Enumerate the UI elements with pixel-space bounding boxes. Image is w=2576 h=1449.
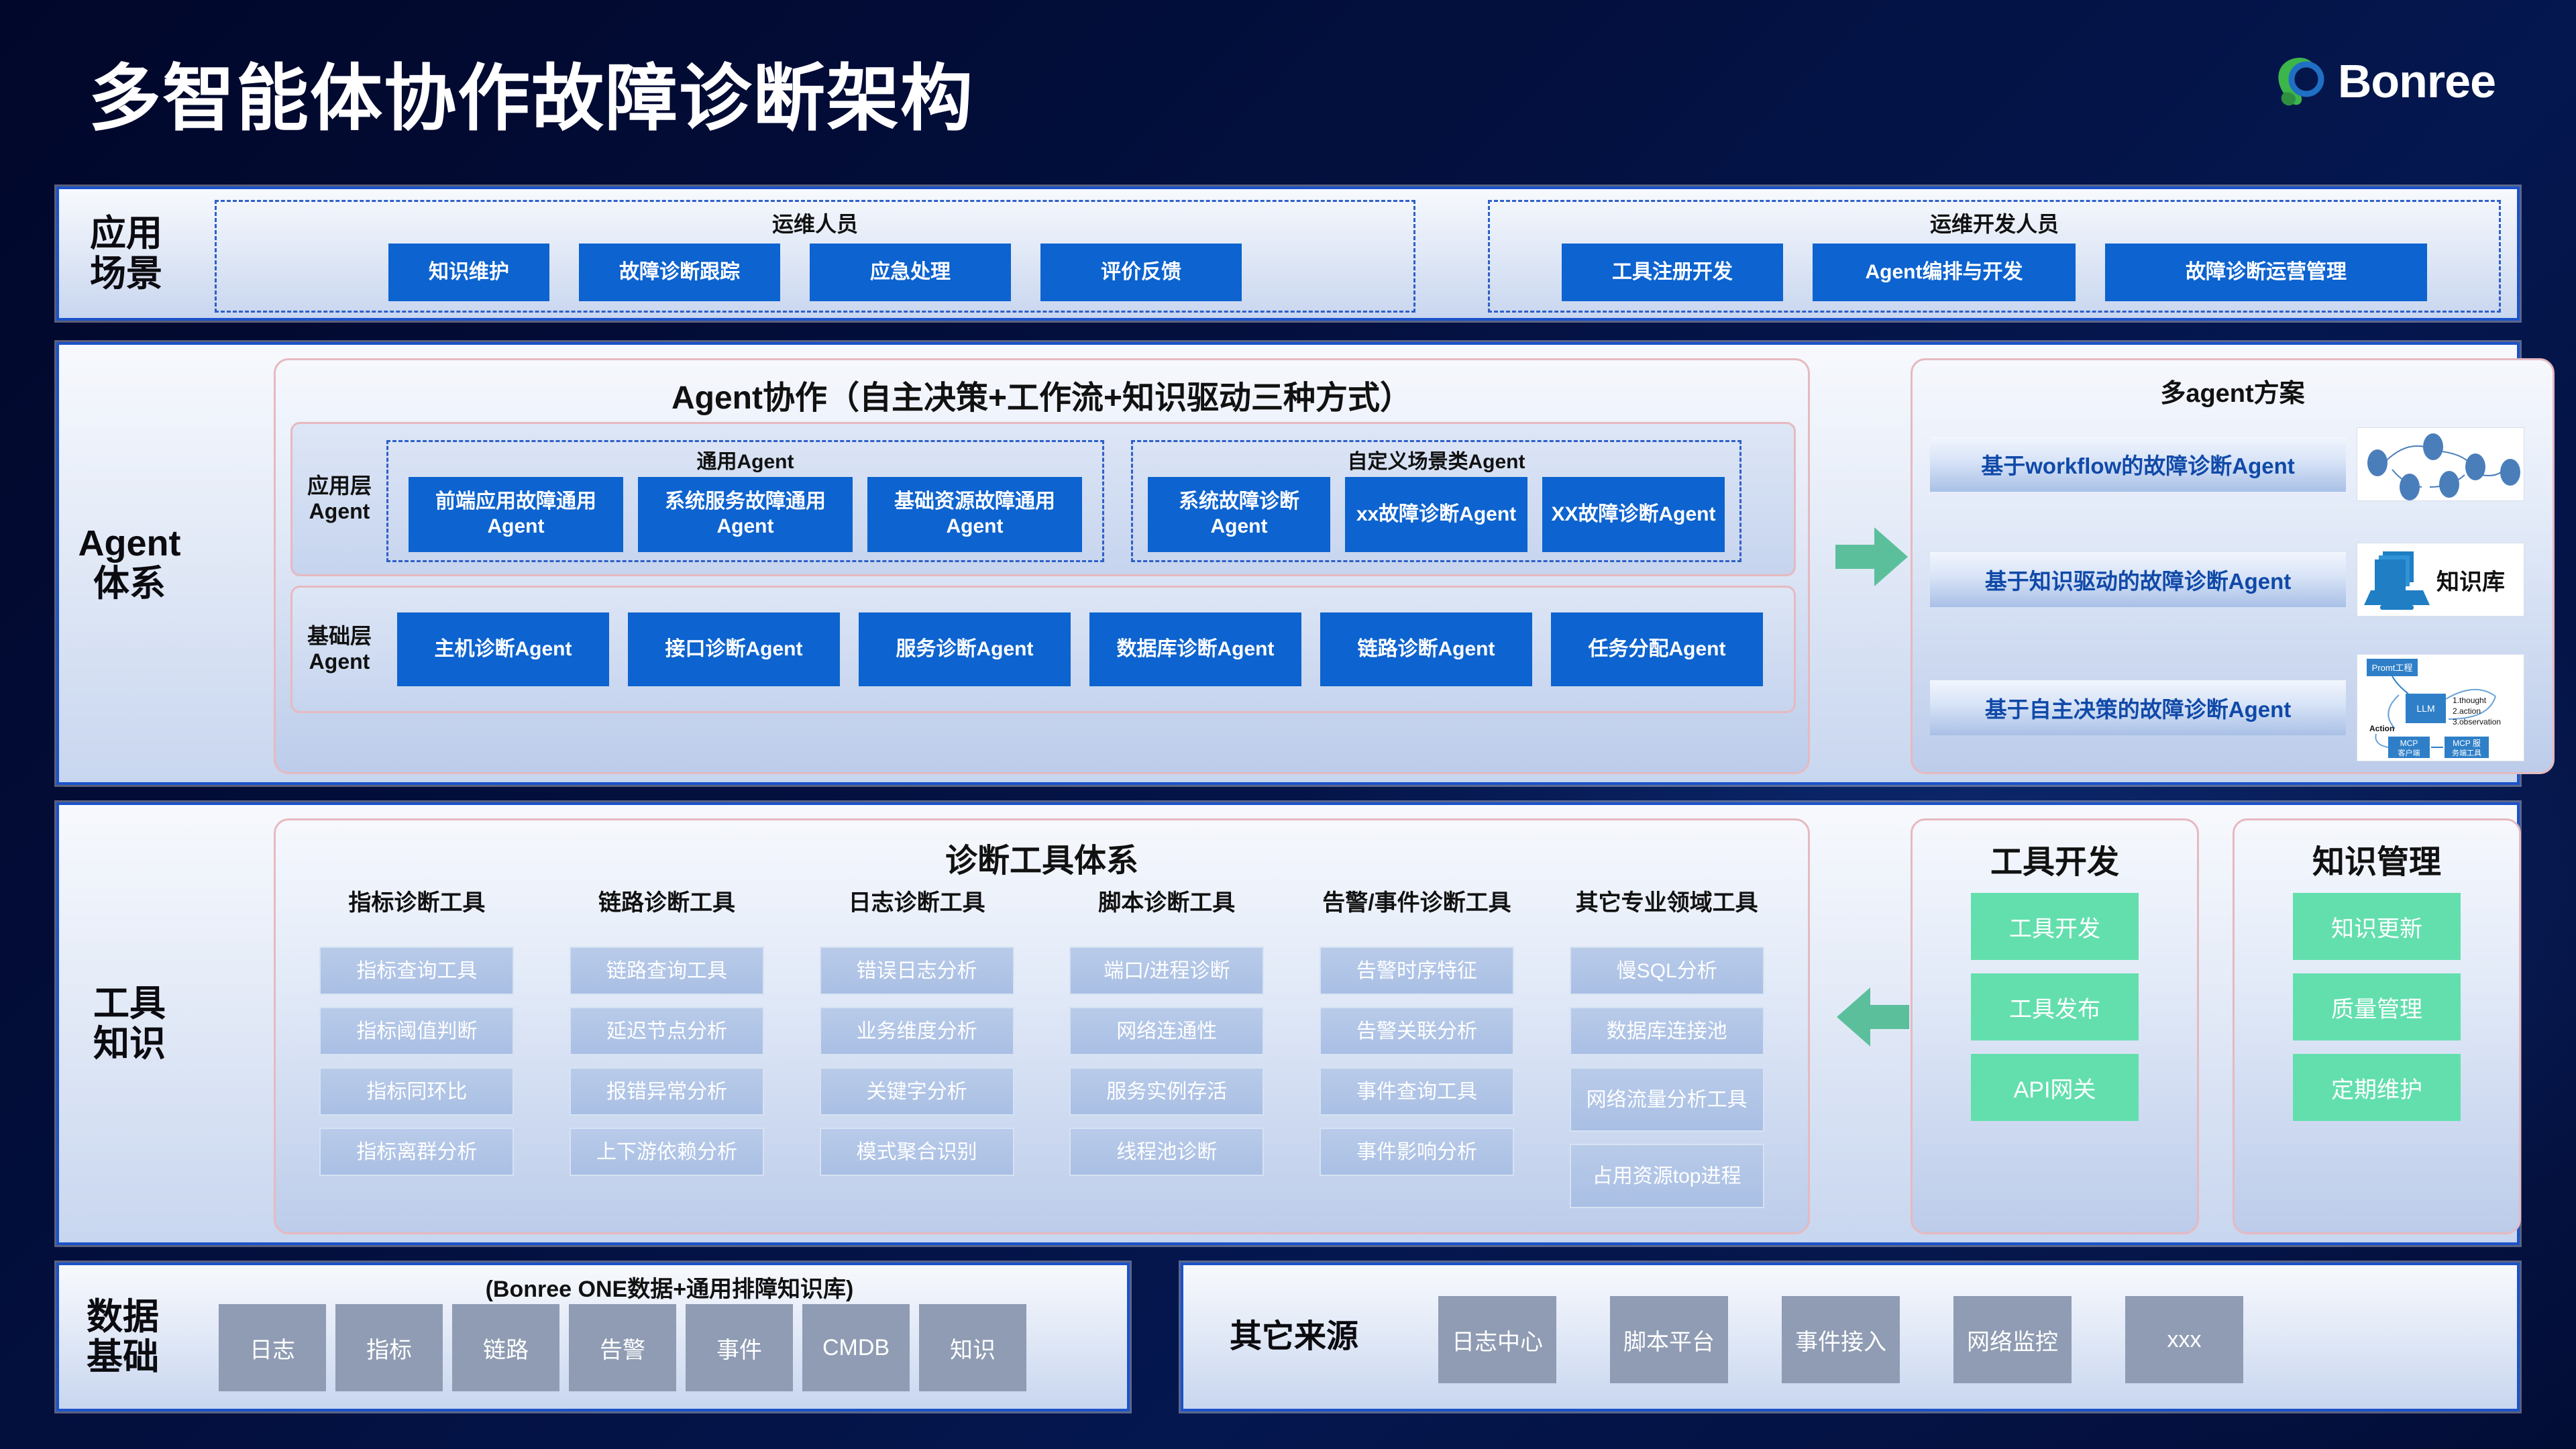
tool-item[interactable]: 业务维度分析 — [820, 1007, 1014, 1055]
tool-column-log: 日志诊断工具 错误日志分析 业务维度分析 关键字分析 模式聚合识别 — [806, 890, 1028, 1220]
tool-item[interactable]: 上下游依赖分析 — [570, 1128, 764, 1176]
agent-interface-diagnosis[interactable]: 接口诊断Agent — [628, 612, 840, 686]
agent-task-allocation[interactable]: 任务分配Agent — [1551, 612, 1763, 686]
application-layer-agent-subpanel: 应用层 Agent 通用Agent 前端应用故障通用Agent 系统服务故障通用… — [290, 422, 1796, 576]
tool-item[interactable]: 指标同环比 — [319, 1067, 514, 1116]
data-chip-alert[interactable]: 告警 — [569, 1304, 676, 1391]
ops-dev-staff-group: 运维开发人员 工具注册开发 Agent编排与开发 故障诊断运营管理 — [1488, 200, 2501, 313]
svg-text:客户端: 客户端 — [2398, 748, 2420, 757]
tool-item[interactable]: 指标离群分析 — [319, 1128, 514, 1176]
general-agent-group: 通用Agent 前端应用故障通用Agent 系统服务故障通用Agent 基础资源… — [386, 440, 1104, 562]
scheme-row-knowledge[interactable]: 基于知识驱动的故障诊断Agent 知识库 — [1930, 543, 2524, 616]
data-chip-metric[interactable]: 指标 — [335, 1304, 443, 1391]
tool-item[interactable]: 端口/进程诊断 — [1069, 947, 1264, 995]
agent-system-band: Agent 体系 Agent协作（自主决策+工作流+知识驱动三种方式） 应用层 … — [56, 342, 2520, 785]
tool-column-trace: 链路诊断工具 链路查询工具 延迟节点分析 报错异常分析 上下游依赖分析 — [556, 890, 777, 1220]
scheme-row-workflow[interactable]: 基于workflow的故障诊断Agent — [1930, 427, 2524, 501]
knowledge-item-maintenance[interactable]: 定期维护 — [2293, 1054, 2461, 1121]
tool-item[interactable]: 慢SQL分析 — [1570, 947, 1764, 995]
agent-database-diagnosis[interactable]: 数据库诊断Agent — [1089, 612, 1301, 686]
svg-text:务端工具: 务端工具 — [2452, 749, 2481, 757]
knowledge-item-quality[interactable]: 质量管理 — [2293, 973, 2461, 1040]
base-layer-agent-label: 基础层 Agent — [292, 624, 386, 675]
scenario-chip-emergency-handling[interactable]: 应急处理 — [810, 244, 1011, 301]
ops-staff-group: 运维人员 知识维护 故障诊断跟踪 应急处理 评价反馈 — [215, 200, 1415, 313]
scheme-label-autonomous-decision[interactable]: 基于自主决策的故障诊断Agent — [1930, 680, 2346, 735]
agent-trace-diagnosis[interactable]: 链路诊断Agent — [1320, 612, 1532, 686]
tool-column-header: 日志诊断工具 — [849, 890, 985, 947]
source-chip-log-center[interactable]: 日志中心 — [1438, 1296, 1556, 1383]
knowledge-base-thumbnail-label: 知识库 — [2436, 563, 2505, 596]
source-chip-network-monitor[interactable]: 网络监控 — [1953, 1296, 2072, 1383]
data-foundation-label: 数据 基础 — [59, 1265, 186, 1409]
tool-item[interactable]: 关键字分析 — [820, 1067, 1014, 1116]
tool-column-metric: 指标诊断工具 指标查询工具 指标阈值判断 指标同环比 指标离群分析 — [306, 890, 527, 1220]
ops-staff-group-title: 运维人员 — [772, 207, 858, 238]
general-agent-group-title: 通用Agent — [697, 445, 794, 474]
scheme-label-knowledge-driven[interactable]: 基于知识驱动的故障诊断Agent — [1930, 552, 2346, 607]
tool-dev-item-develop[interactable]: 工具开发 — [1971, 893, 2139, 960]
workflow-graph-thumbnail-icon — [2357, 427, 2524, 501]
tool-column-header: 指标诊断工具 — [348, 890, 485, 947]
tool-dev-item-api-gateway[interactable]: API网关 — [1971, 1054, 2139, 1121]
svg-text:MCP: MCP — [2400, 739, 2418, 748]
scenario-chip-agent-orchestration-dev[interactable]: Agent编排与开发 — [1813, 244, 2076, 301]
agent-collaboration-panel: Agent协作（自主决策+工作流+知识驱动三种方式） 应用层 Agent 通用A… — [274, 358, 1810, 774]
tool-item[interactable]: 延迟节点分析 — [570, 1007, 764, 1055]
agent-xx-fault-diagnosis-upper[interactable]: XX故障诊断Agent — [1542, 477, 1725, 552]
svg-text:2.action: 2.action — [2453, 706, 2481, 716]
tool-item[interactable]: 服务实例存活 — [1069, 1067, 1264, 1116]
application-scenario-label: 应用 场景 — [59, 189, 193, 318]
scenario-chip-evaluation-feedback[interactable]: 评价反馈 — [1040, 244, 1242, 301]
agent-system-fault-diagnosis[interactable]: 系统故障诊断Agent — [1148, 477, 1330, 552]
application-scenario-band: 应用 场景 运维人员 知识维护 故障诊断跟踪 应急处理 评价反馈 运维开发人员 … — [56, 186, 2520, 321]
custom-scenario-agent-group-title: 自定义场景类Agent — [1348, 445, 1525, 474]
tool-column-script: 脚本诊断工具 端口/进程诊断 网络连通性 服务实例存活 线程池诊断 — [1056, 890, 1277, 1220]
scenario-chip-fault-diagnosis-tracking[interactable]: 故障诊断跟踪 — [579, 244, 780, 301]
data-foundation-band: 数据 基础 (Bonree ONE数据+通用排障知识库) 日志 指标 链路 告警… — [56, 1263, 1130, 1411]
tool-development-title: 工具开发 — [1913, 835, 2197, 882]
tool-item[interactable]: 事件查询工具 — [1320, 1067, 1514, 1116]
tool-column-header: 链路诊断工具 — [598, 890, 735, 947]
svg-text:3.observation: 3.observation — [2453, 717, 2501, 727]
tool-column-header: 其它专业领域工具 — [1576, 890, 1758, 947]
agent-basic-resource-fault-general[interactable]: 基础资源故障通用Agent — [867, 477, 1082, 552]
page-header: 多智能体协作故障诊断架构 Bonree — [0, 0, 2576, 168]
brand-logo-text: Bonree — [2338, 54, 2495, 108]
source-chip-event-ingest[interactable]: 事件接入 — [1782, 1296, 1900, 1383]
application-layer-agent-label: 应用层 Agent — [292, 474, 386, 525]
data-foundation-subtitle: (Bonree ONE数据+通用排障知识库) — [213, 1271, 1126, 1303]
other-sources-label: 其它来源 — [1183, 1265, 1405, 1409]
tool-item[interactable]: 事件影响分析 — [1320, 1128, 1514, 1176]
data-chip-log[interactable]: 日志 — [219, 1304, 326, 1391]
custom-scenario-agent-group: 自定义场景类Agent 系统故障诊断Agent xx故障诊断Agent XX故障… — [1131, 440, 1741, 562]
tool-item[interactable]: 错误日志分析 — [820, 947, 1014, 995]
data-chip-cmdb[interactable]: CMDB — [802, 1304, 910, 1391]
tool-column-header: 脚本诊断工具 — [1098, 890, 1235, 947]
tool-item[interactable]: 模式聚合识别 — [820, 1128, 1014, 1176]
source-chip-xxx[interactable]: xxx — [2125, 1296, 2243, 1383]
tool-item[interactable]: 指标阈值判断 — [319, 1007, 514, 1055]
scenario-chip-fault-diagnosis-ops-mgmt[interactable]: 故障诊断运营管理 — [2105, 244, 2427, 301]
bonree-circle-logo-icon — [2271, 52, 2328, 110]
data-chip-trace[interactable]: 链路 — [452, 1304, 559, 1391]
tool-item[interactable]: 占用资源top进程 — [1570, 1144, 1764, 1208]
tool-knowledge-label: 工具 知识 — [59, 805, 200, 1242]
agent-xx-fault-diagnosis-lower[interactable]: xx故障诊断Agent — [1345, 477, 1527, 552]
knowledge-base-thumbnail-icon: 知识库 — [2357, 543, 2524, 616]
tool-item[interactable]: 告警关联分析 — [1320, 1007, 1514, 1055]
source-chip-script-platform[interactable]: 脚本平台 — [1610, 1296, 1728, 1383]
diagnosis-tool-system-panel: 诊断工具体系 指标诊断工具 指标查询工具 指标阈值判断 指标同环比 指标离群分析… — [274, 818, 1810, 1234]
agent-system-service-fault-general[interactable]: 系统服务故障通用Agent — [638, 477, 853, 552]
svg-text:LLM: LLM — [2416, 703, 2434, 714]
tool-item[interactable]: 线程池诊断 — [1069, 1128, 1264, 1176]
tool-development-panel: 工具开发 工具开发 工具发布 API网关 — [1911, 818, 2199, 1234]
tool-item[interactable]: 链路查询工具 — [570, 947, 764, 995]
ops-dev-staff-group-title: 运维开发人员 — [1930, 207, 2059, 238]
tool-item[interactable]: 网络连通性 — [1069, 1007, 1264, 1055]
knowledge-management-panel: 知识管理 知识更新 质量管理 定期维护 — [2233, 818, 2521, 1234]
brand-logo: Bonree — [2271, 52, 2495, 110]
tool-dev-item-publish[interactable]: 工具发布 — [1971, 973, 2139, 1040]
svg-text:1.thought: 1.thought — [2453, 696, 2487, 705]
tool-column-other-domain: 其它专业领域工具 慢SQL分析 数据库连接池 网络流量分析工具 占用资源top进… — [1556, 890, 1778, 1220]
scenario-chip-tool-registration-dev[interactable]: 工具注册开发 — [1562, 244, 1783, 301]
agent-host-diagnosis[interactable]: 主机诊断Agent — [397, 612, 609, 686]
knowledge-management-title: 知识管理 — [2235, 835, 2519, 882]
tool-item[interactable]: 数据库连接池 — [1570, 1007, 1764, 1055]
svg-text:MCP 服: MCP 服 — [2453, 739, 2481, 748]
data-chip-event[interactable]: 事件 — [686, 1304, 793, 1391]
tool-item[interactable]: 报错异常分析 — [570, 1067, 764, 1116]
agent-system-label: Agent 体系 — [59, 345, 200, 782]
tool-knowledge-band: 工具 知识 诊断工具体系 指标诊断工具 指标查询工具 指标阈值判断 指标同环比 … — [56, 802, 2520, 1245]
tool-column-alert-event: 告警/事件诊断工具 告警时序特征 告警关联分析 事件查询工具 事件影响分析 — [1306, 890, 1527, 1220]
data-chip-knowledge[interactable]: 知识 — [919, 1304, 1026, 1391]
scheme-label-workflow[interactable]: 基于workflow的故障诊断Agent — [1930, 437, 2346, 492]
scenario-chip-knowledge-maintenance[interactable]: 知识维护 — [388, 244, 549, 301]
base-layer-agent-subpanel: 基础层 Agent 主机诊断Agent 接口诊断Agent 服务诊断Agent … — [290, 586, 1796, 713]
knowledge-item-update[interactable]: 知识更新 — [2293, 893, 2461, 960]
page-title: 多智能体协作故障诊断架构 — [89, 40, 974, 145]
tool-item[interactable]: 告警时序特征 — [1320, 947, 1514, 995]
agent-service-diagnosis[interactable]: 服务诊断Agent — [859, 612, 1071, 686]
svg-text:Promt工程: Promt工程 — [2372, 663, 2413, 673]
diagnosis-tool-system-title: 诊断工具体系 — [276, 834, 1808, 881]
tool-item[interactable]: 网络流量分析工具 — [1570, 1067, 1764, 1132]
agent-frontend-app-fault-general[interactable]: 前端应用故障通用Agent — [409, 477, 623, 552]
svg-text:Action: Action — [2369, 724, 2394, 733]
react-loop-thumbnail-icon: Promt工程 LLM 1.thought 2.action 3.observa… — [2357, 654, 2524, 761]
multi-agent-scheme-title: 多agent方案 — [1913, 372, 2553, 409]
other-sources-band: 其它来源 日志中心 脚本平台 事件接入 网络监控 xxx — [1181, 1263, 2520, 1411]
arrow-right-icon — [1835, 525, 1909, 592]
agent-collaboration-title: Agent协作（自主决策+工作流+知识驱动三种方式） — [276, 371, 1808, 418]
arrow-left-icon — [1835, 985, 1909, 1053]
scheme-row-autonomous[interactable]: 基于自主决策的故障诊断Agent Promt工程 LLM 1.thought 2… — [1930, 654, 2524, 761]
multi-agent-scheme-panel: 多agent方案 基于workflow的故障诊断Agent — [1911, 358, 2555, 774]
tool-item[interactable]: 指标查询工具 — [319, 947, 514, 995]
tool-column-header: 告警/事件诊断工具 — [1322, 890, 1511, 947]
